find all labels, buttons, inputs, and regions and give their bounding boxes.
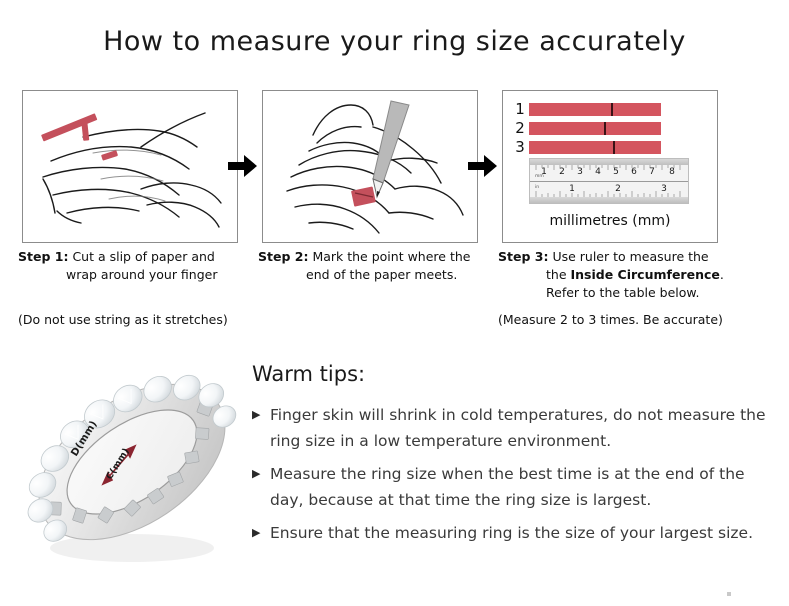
strip-mark [611, 103, 613, 116]
warm-tips-title: Warm tips: [252, 362, 772, 386]
steps-illustration-row: 1 2 3 [0, 90, 789, 250]
strip-bar [529, 141, 661, 154]
ruler-graphic: 1 2 3 4 5 6 7 8 mm 1 2 3 in [529, 158, 689, 204]
eternity-ring-photo [14, 352, 254, 587]
ring-diagram: D(mm) C(mm) [14, 352, 254, 587]
step-2-panel [262, 90, 478, 243]
step-1-caption: Step 1: Cut a slip of paper and wrap aro… [18, 248, 248, 284]
step-arrow-1-to-2-icon [228, 152, 258, 180]
tip-text: Ensure that the measuring ring is the si… [270, 520, 753, 546]
strip-number: 3 [511, 141, 529, 154]
measured-strip-row: 2 [511, 122, 661, 135]
measured-strip-row: 1 [511, 103, 661, 116]
ruler-cm-labels: 1 2 3 4 5 6 7 8 [530, 167, 688, 181]
warm-tips-section: Warm tips: ▶ Finger skin will shrink in … [252, 362, 772, 553]
step-3-text-line-1: Use ruler to measure the [552, 249, 708, 264]
step-2-label: Step 2: [258, 249, 308, 264]
step-3-note: (Measure 2 to 3 times. Be accurate) [498, 312, 723, 328]
pencil-shape [373, 101, 409, 197]
step-3-panel: 1 2 3 [502, 90, 718, 243]
tip-item: ▶ Measure the ring size when the best ti… [252, 461, 772, 513]
step-3-label: Step 3: [498, 249, 548, 264]
step-1-panel [22, 90, 238, 243]
ruler-cm-label: 2 [559, 167, 565, 177]
corner-artifact [727, 592, 731, 596]
step-3-emphasis: Inside Circumference [571, 267, 720, 282]
strip-number: 1 [511, 103, 529, 116]
measured-strip-row: 3 [511, 141, 661, 154]
step-3-text-line-2-prefix: the [546, 267, 571, 282]
strip-mark [604, 122, 606, 135]
ruler-cm-label: 4 [595, 167, 601, 177]
step-2-caption: Step 2: Mark the point where the end of … [258, 248, 488, 284]
hand-marking-paper-drawing [263, 91, 477, 242]
step-2-text-line-1: Mark the point where the [312, 249, 470, 264]
page-title: How to measure your ring size accurately [0, 26, 789, 57]
tip-item: ▶ Ensure that the measuring ring is the … [252, 520, 772, 546]
step-1-text-line-2: wrap around your finger [18, 266, 248, 284]
ruler-cm-label: 5 [613, 167, 619, 177]
step-3-caption: Step 3: Use ruler to measure the the Ins… [498, 248, 728, 302]
ruler-mm-unit-tag: mm [535, 174, 544, 179]
ruler-cm-label: 8 [669, 167, 675, 177]
ruler-inch-ticks [530, 185, 688, 197]
step-3-text-line-2-suffix: . [720, 267, 724, 282]
step-1-text-line-1: Cut a slip of paper and [72, 249, 214, 264]
step-arrow-2-to-3-icon [468, 152, 498, 180]
ruler-unit-caption: millimetres (mm) [503, 213, 717, 229]
strip-bar [529, 122, 661, 135]
step-1-note: (Do not use string as it stretches) [18, 312, 228, 328]
bullet-triangle-icon: ▶ [252, 520, 270, 546]
strip-mark [613, 141, 615, 154]
bullet-triangle-icon: ▶ [252, 402, 270, 428]
ruler-cm-label: 7 [649, 167, 655, 177]
step-2-text-line-2: end of the paper meets. [258, 266, 488, 284]
tip-text: Finger skin will shrink in cold temperat… [270, 402, 772, 454]
step-1-label: Step 1: [18, 249, 68, 264]
tip-item: ▶ Finger skin will shrink in cold temper… [252, 402, 772, 454]
strip-number: 2 [511, 122, 529, 135]
hand-with-paper-slip-drawing [23, 91, 237, 242]
ruler-divider [530, 181, 688, 182]
strip-bar [529, 103, 661, 116]
step-3-text-line-3: Refer to the table below. [498, 284, 728, 302]
tip-text: Measure the ring size when the best time… [270, 461, 772, 513]
paper-slip-shapes [41, 113, 118, 160]
bullet-triangle-icon: ▶ [252, 461, 270, 487]
ruler-cm-label: 3 [577, 167, 583, 177]
ruler-cm-label: 6 [631, 167, 637, 177]
